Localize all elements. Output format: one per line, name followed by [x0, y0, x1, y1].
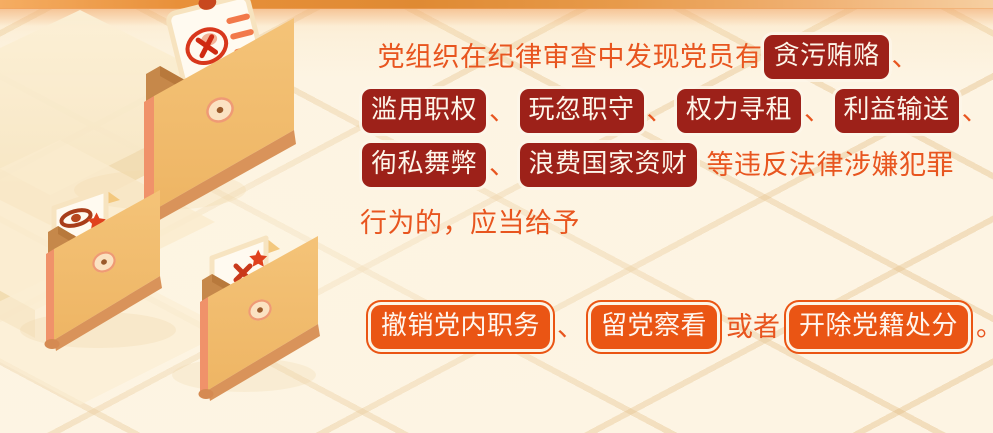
- banner-line-1: 党组织在纪律审查中发现党员有 贪污贿赂 、: [360, 30, 920, 84]
- banner-line-5-penalties: 撤销党内职务 、 留党察看 或者 开除党籍处分 。: [366, 305, 993, 349]
- offense-tag-wanhuzhishou: 玩忽职守: [520, 89, 644, 133]
- line2-separator-3: 、: [803, 98, 833, 125]
- line2-trailing-separator: 、: [961, 98, 991, 125]
- offense-tag-tanwuhuilu: 贪污贿赂: [764, 35, 888, 79]
- penalty-tag-liudangchakan: 留党察看: [591, 305, 717, 349]
- offense-tag-quanlixunzu: 权力寻租: [677, 89, 801, 133]
- line4-text: 行为的，应当给予: [360, 210, 580, 237]
- banner-canvas: 党组织在纪律审查中发现党员有 贪污贿赂 、 滥用职权 、 玩忽职守 、 权力寻租…: [0, 0, 993, 433]
- line5-separator-1: 、: [555, 314, 586, 341]
- line5-period: 。: [973, 314, 993, 341]
- line1-lead-text: 党组织在纪律审查中发现党员有: [377, 44, 762, 71]
- offense-tag-xunsiwubi: 徇私舞弊: [362, 143, 486, 187]
- line2-separator-1: 、: [488, 98, 518, 125]
- banner-text-column: 党组织在纪律审查中发现党员有 贪污贿赂 、 滥用职权 、 玩忽职守 、 权力寻租…: [360, 30, 920, 254]
- line3-separator-1: 、: [488, 152, 518, 179]
- penalty-tag-kaichudangjichufen: 开除党籍处分: [789, 305, 968, 349]
- line5-connector-text: 或者: [722, 314, 784, 341]
- isometric-case-files-illustration: [0, 0, 380, 433]
- offense-tag-lanyongzhiquan: 滥用职权: [362, 89, 486, 133]
- banner-line-3: 徇私舞弊 、 浪费国家资财 等违反法律涉嫌犯罪: [360, 138, 920, 192]
- offense-tag-liyishusong: 利益输送: [835, 89, 959, 133]
- line3-tail-text: 等违反法律涉嫌犯罪: [699, 152, 955, 179]
- penalty-tag-chexiaodangneizhiwu: 撤销党内职务: [371, 305, 550, 349]
- offense-tag-langfeiguojiazicai: 浪费国家资财: [520, 143, 697, 187]
- line1-trailing-separator: 、: [891, 44, 921, 71]
- banner-line-4: 行为的，应当给予: [360, 192, 920, 254]
- line2-separator-2: 、: [646, 98, 676, 125]
- banner-line-2: 滥用职权 、 玩忽职守 、 权力寻租 、 利益输送 、: [360, 84, 920, 138]
